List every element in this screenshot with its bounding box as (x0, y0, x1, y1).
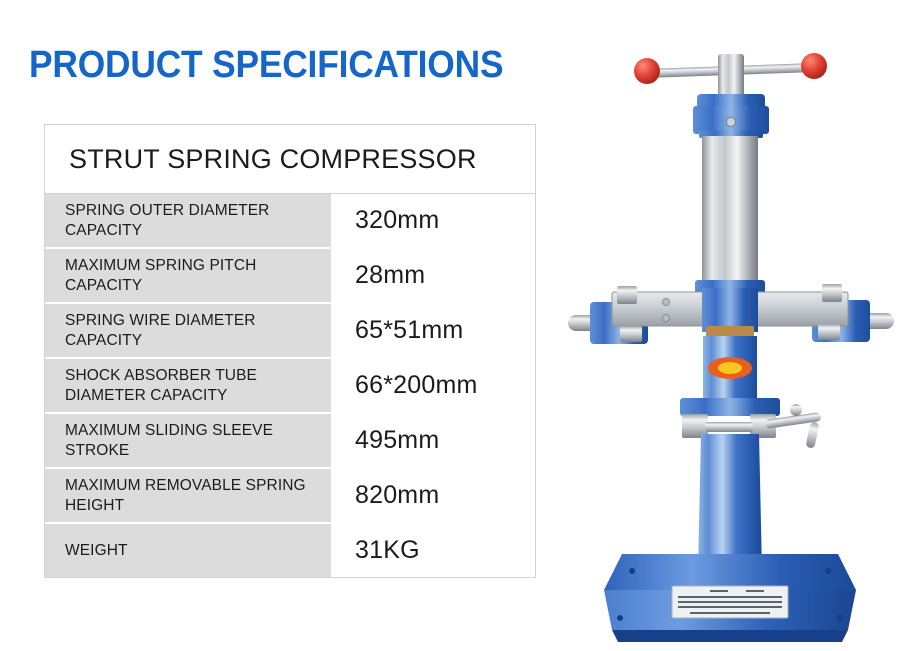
table-row: SPRING OUTER DIAMETER CAPACITY 320mm (45, 194, 535, 249)
spec-label-cell: MAXIMUM REMOVABLE SPRING HEIGHT (45, 469, 331, 522)
crank-handle (805, 421, 819, 448)
brand-decal (708, 357, 752, 379)
spec-value-text: 820mm (355, 481, 439, 510)
base-bolt-hole (629, 568, 635, 574)
base-bolt-hole (617, 615, 623, 621)
spec-label-cell: SPRING WIRE DIAMETER CAPACITY (45, 304, 331, 357)
spec-value-cell: 820mm (331, 469, 535, 522)
spec-label-cell: SHOCK ABSORBER TUBE DIAMETER CAPACITY (45, 359, 331, 412)
spec-label-cell: MAXIMUM SPRING PITCH CAPACITY (45, 249, 331, 302)
spec-value-cell: 65*51mm (331, 304, 535, 357)
product-photo (560, 30, 900, 651)
clamp-center-column (702, 288, 758, 332)
spec-label-text: MAXIMUM REMOVABLE SPRING HEIGHT (65, 476, 323, 516)
spec-value-text: 495mm (355, 426, 439, 455)
spec-value-cell: 28mm (331, 249, 535, 302)
spec-label-text: SHOCK ABSORBER TUBE DIAMETER CAPACITY (65, 366, 323, 406)
table-row: WEIGHT 31KG (45, 524, 535, 577)
spec-label-text: WEIGHT (65, 543, 128, 559)
spec-label-text: SPRING WIRE DIAMETER CAPACITY (65, 311, 323, 351)
clamp-jaw-right (822, 284, 842, 302)
table-row: MAXIMUM SLIDING SLEEVE STROKE 495mm (45, 414, 535, 469)
spec-value-text: 31KG (355, 536, 420, 565)
chrome-ram-cylinder (702, 136, 758, 284)
plate-bolt (663, 315, 670, 322)
spec-label-text: MAXIMUM SPRING PITCH CAPACITY (65, 256, 323, 296)
table-row: MAXIMUM SPRING PITCH CAPACITY 28mm (45, 249, 535, 304)
upper-clamp-assembly (568, 284, 894, 344)
crank-pivot (790, 404, 802, 416)
table-body: SPRING OUTER DIAMETER CAPACITY 320mm MAX… (44, 194, 536, 578)
spec-value-cell: 320mm (331, 194, 535, 247)
spec-value-cell: 495mm (331, 414, 535, 467)
spec-value-text: 320mm (355, 206, 439, 235)
spec-value-cell: 31KG (331, 524, 535, 577)
spec-label-text: SPRING OUTER DIAMETER CAPACITY (65, 201, 323, 241)
table-row: MAXIMUM REMOVABLE SPRING HEIGHT 820mm (45, 469, 535, 524)
specification-table: STRUT SPRING COMPRESSOR SPRING OUTER DIA… (44, 124, 536, 578)
table-row: SPRING WIRE DIAMETER CAPACITY 65*51mm (45, 304, 535, 359)
lower-clamp-body (680, 398, 780, 416)
t-handle-assembly (634, 53, 827, 96)
base-bolt-hole (825, 568, 831, 574)
plate-bolt (663, 299, 670, 306)
base-bolt-hole (837, 615, 843, 621)
decal-diamond-inner (718, 362, 742, 374)
handle-ball-right (801, 53, 827, 79)
ram-top-hub (718, 54, 744, 96)
spec-value-text: 66*200mm (355, 371, 478, 400)
spec-value-text: 65*51mm (355, 316, 463, 345)
strut-spring-compressor-illustration (560, 30, 900, 651)
page-title: PRODUCT SPECIFICATIONS (29, 44, 503, 87)
spec-label-cell: WEIGHT (45, 524, 331, 577)
spec-label-cell: MAXIMUM SLIDING SLEEVE STROKE (45, 414, 331, 467)
spec-value-text: 28mm (355, 261, 425, 290)
machine-base (604, 554, 856, 642)
table-header-row: STRUT SPRING COMPRESSOR (44, 124, 536, 194)
base-bottom-edge (612, 630, 848, 642)
cap-bolt (727, 118, 736, 127)
lower-tie-rod (705, 422, 753, 432)
spec-label-text: MAXIMUM SLIDING SLEEVE STROKE (65, 421, 323, 461)
handle-ball-left (634, 58, 660, 84)
clamp-shoe-right (818, 324, 840, 340)
base-top-slab (604, 554, 856, 590)
spec-label-cell: SPRING OUTER DIAMETER CAPACITY (45, 194, 331, 247)
upper-blue-cap (693, 94, 769, 138)
spec-value-cell: 66*200mm (331, 359, 535, 412)
clamp-jaw-left (617, 286, 637, 304)
table-row: SHOCK ABSORBER TUBE DIAMETER CAPACITY 66… (45, 359, 535, 414)
clamp-shoe-left (620, 326, 642, 342)
product-name: STRUT SPRING COMPRESSOR (69, 144, 477, 175)
